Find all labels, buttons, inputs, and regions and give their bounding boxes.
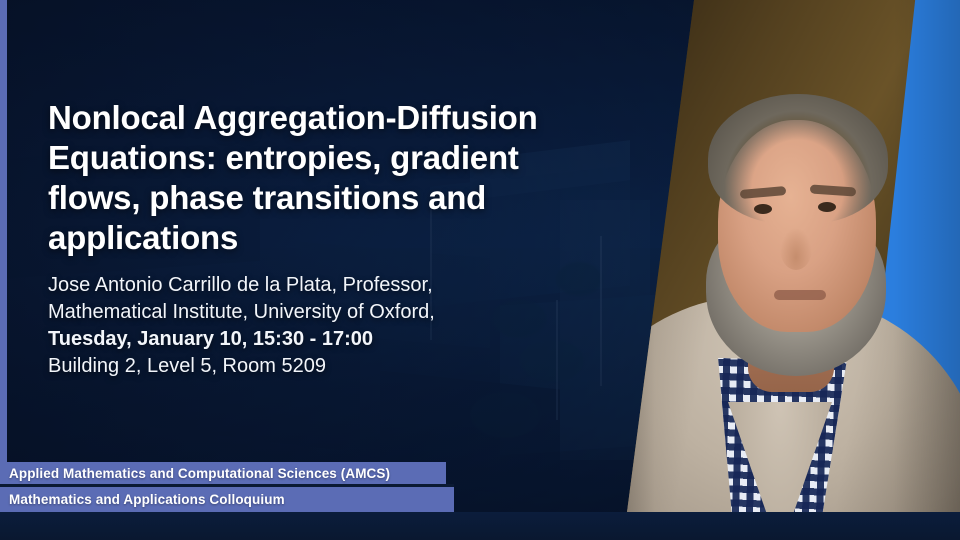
banner-department: Applied Mathematics and Computational Sc… <box>0 462 446 484</box>
left-accent-strip <box>0 0 7 540</box>
title-line-2: Equations: entropies, gradient <box>48 138 588 178</box>
talk-location: Building 2, Level 5, Room 5209 <box>48 353 608 380</box>
banner-series: Mathematics and Applications Colloquium <box>0 487 454 512</box>
page-title: Nonlocal Aggregation-Diffusion Equations… <box>48 98 588 258</box>
title-line-4: applications <box>48 218 588 258</box>
title-line-3: flows, phase transitions and <box>48 178 588 218</box>
bottom-dark-band <box>0 512 960 540</box>
seminar-slide: Nonlocal Aggregation-Diffusion Equations… <box>0 0 960 540</box>
speaker-affiliation-line: Mathematical Institute, University of Ox… <box>48 299 608 326</box>
talk-datetime: Tuesday, January 10, 15:30 - 17:00 <box>48 326 608 353</box>
title-line-1: Nonlocal Aggregation-Diffusion <box>48 98 588 138</box>
banner-series-label: Mathematics and Applications Colloquium <box>9 492 285 507</box>
speaker-name-line: Jose Antonio Carrillo de la Plata, Profe… <box>48 272 608 299</box>
talk-details: Jose Antonio Carrillo de la Plata, Profe… <box>48 272 608 380</box>
banner-department-label: Applied Mathematics and Computational Sc… <box>9 466 390 481</box>
